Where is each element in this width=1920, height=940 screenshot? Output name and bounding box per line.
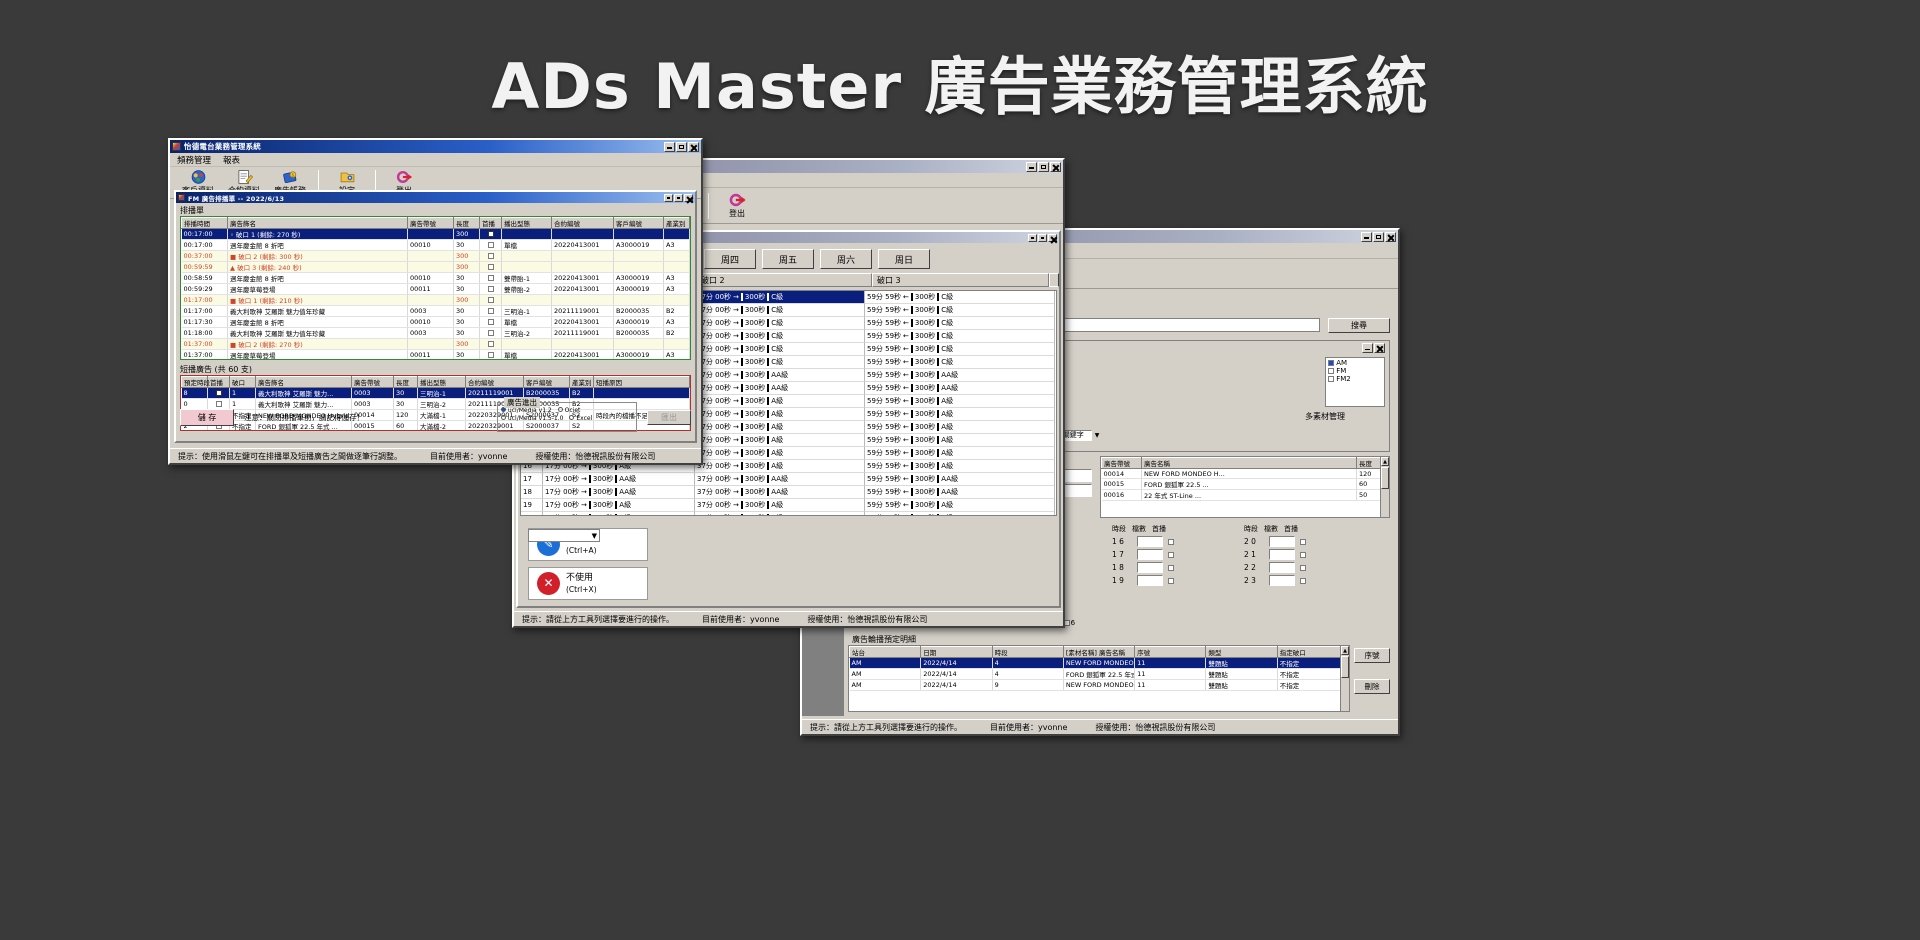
slot-bar-icon	[741, 436, 743, 444]
mdi2-controls[interactable]	[1028, 234, 1057, 242]
schedule-cell-8	[664, 339, 690, 350]
close-icon[interactable]	[1050, 162, 1061, 172]
slot-cell[interactable]: 59分 59秒←300秒AA級	[865, 382, 1055, 395]
slot-bar-icon	[767, 319, 769, 327]
hour-first-checkbox[interactable]	[1168, 552, 1174, 558]
slot-cell[interactable]: 37分 00秒→300秒AA級	[695, 473, 865, 486]
detail-col-2: 時段	[992, 647, 1063, 658]
hour-count-input[interactable]	[1137, 549, 1163, 560]
table-row[interactable]: 01:17:00■ 破口 1 (剩餘: 210 秒)300	[182, 295, 690, 306]
slot-bar-icon	[767, 488, 769, 496]
window-main-ads-master[interactable]: 怡德電台業務管理系統 頻務管理 報表 客戶資料 合約資料	[168, 138, 703, 465]
tab-周日[interactable]: 周日	[878, 249, 930, 269]
slot-text: A級	[941, 448, 953, 458]
slot-text: 59分 59秒	[867, 487, 901, 497]
slot-bar-icon	[741, 514, 743, 516]
maximize-icon[interactable]	[674, 194, 683, 202]
slot-cell[interactable]: 17分 00秒→300秒AA級	[543, 486, 695, 499]
panel-close-icon[interactable]	[1374, 343, 1385, 353]
hour-count-input[interactable]	[1269, 562, 1295, 573]
radio-label-3: Excel	[576, 415, 592, 422]
table-row[interactable]: 00:58:59週年慶金館 8 折吧0001030雙帶胎-12022041300…	[182, 273, 690, 284]
slot-text: AA級	[771, 474, 788, 484]
schedule-cell-0: 01:17:00	[182, 295, 228, 306]
detail-delete-button[interactable]: 刪除	[1354, 679, 1390, 694]
table-row[interactable]: 00:17:00◦ 破口 1 (剩餘: 270 秒)300	[182, 229, 690, 240]
schedule-cell-2: 0003	[408, 328, 454, 339]
slot-cell[interactable]: 59分 59秒←300秒C級	[865, 317, 1055, 330]
row-checkbox[interactable]	[216, 390, 222, 396]
slot-cell[interactable]: 59分 59秒←300秒A級	[865, 499, 1055, 512]
slot-bar-icon	[911, 319, 913, 327]
table-row[interactable]: 00014NEW FORD MONDEO H...120	[1102, 469, 1389, 479]
row-checkbox[interactable]	[488, 242, 494, 248]
slot-cell[interactable]: 59分 59秒←300秒AA級	[865, 369, 1055, 382]
slot-cell[interactable]: 17分 00秒→300秒A級	[543, 499, 695, 512]
cancel-icon: ✕	[537, 572, 560, 595]
slot-cell[interactable]: 37分 00秒→300秒A級	[695, 408, 865, 421]
slot-cell[interactable]: 59分 59秒←300秒C級	[865, 304, 1055, 317]
slot-text: 59分 59秒	[867, 500, 901, 510]
slot-text: 59分 59秒	[867, 292, 901, 302]
schedule-cell-3: 30	[454, 284, 480, 295]
slot-arrow-icon: ←	[903, 423, 909, 431]
schedule-cell-8: A3	[664, 240, 690, 251]
minimize-icon[interactable]	[1026, 162, 1037, 172]
hour-first-checkbox[interactable]	[1300, 539, 1306, 545]
table-row[interactable]: 00015FORD 銀狐軍 22.5 ...60	[1102, 479, 1389, 490]
slot-text: 300秒	[915, 383, 935, 393]
slot-cell[interactable]: 59分 59秒←300秒A級	[865, 421, 1055, 434]
detail-cell-1: 2022/4/14	[921, 658, 992, 669]
slot-arrow-icon: →	[581, 501, 587, 509]
slot-text: 300秒	[593, 500, 613, 510]
slot-arrow-icon: →	[733, 358, 739, 366]
scroll-thumb[interactable]	[1381, 467, 1389, 489]
slot-bar-icon	[911, 371, 913, 379]
menu-item-0[interactable]: 頻務管理	[177, 154, 211, 166]
row-checkbox[interactable]	[488, 286, 494, 292]
station-am-checkbox[interactable]	[1328, 360, 1334, 366]
export-button[interactable]: 匯出	[647, 410, 691, 425]
slot-cell[interactable]: 37分 00秒→300秒AA級	[695, 486, 865, 499]
slot-cell[interactable]: 59分 59秒←300秒C級	[865, 343, 1055, 356]
slot-arrow-icon: ←	[903, 332, 909, 340]
hour-row[interactable]: 2 2	[1244, 562, 1362, 573]
slot-text: AA級	[941, 370, 958, 380]
slot-cell[interactable]: 37分 00秒→300秒C級	[695, 343, 865, 356]
hour-first-checkbox[interactable]	[1300, 578, 1306, 584]
slot-bar-icon	[937, 488, 939, 496]
table-row[interactable]: 00:37:00■ 破口 2 (剩餘: 300 秒)300	[182, 251, 690, 262]
slot-arrow-icon: ←	[903, 319, 909, 327]
hour-first-checkbox[interactable]	[1300, 552, 1306, 558]
slot-arrow-icon: →	[733, 397, 739, 405]
schedule-cell-4	[480, 339, 502, 350]
table-row[interactable]: 01:17:30週年慶金館 8 折吧0001030單檔20220413001A3…	[182, 317, 690, 328]
slot-row[interactable]: 1917分 00秒→300秒A級37分 00秒→300秒A級59分 59秒←30…	[521, 499, 1056, 512]
schedule-cell-7: A3000019	[614, 240, 664, 251]
tab-周六[interactable]: 周六	[820, 249, 872, 269]
disable-button[interactable]: ✕ 不使用 (Ctrl+X)	[528, 567, 648, 600]
station-option-0: AM	[1336, 359, 1347, 367]
schedule-cell-7: A3000019	[614, 317, 664, 328]
slot-cell[interactable]: 59分 59秒←300秒C級	[865, 291, 1055, 304]
row-checkbox[interactable]	[488, 231, 494, 237]
slot-cell[interactable]: 37分 00秒→300秒C級	[695, 304, 865, 317]
slot-cell[interactable]: 59分 59秒←300秒AA級	[865, 486, 1055, 499]
slot-arrow-icon: ←	[903, 371, 909, 379]
slot-cell[interactable]: 37分 00秒→300秒C級	[695, 356, 865, 369]
window1-menubar[interactable]: 頻務管理 報表	[170, 153, 701, 167]
maximize-icon[interactable]	[1038, 234, 1047, 242]
table-row[interactable]: 00:17:00週年慶金館 8 折吧0001030單檔20220413001A3…	[182, 240, 690, 251]
schedule-col-1: 廣告飾名	[228, 218, 408, 229]
hour-first-checkbox[interactable]	[1168, 578, 1174, 584]
slot-text: 59分 59秒	[867, 305, 901, 315]
slot-text: A級	[771, 435, 783, 445]
slot-cell[interactable]: 37分 00秒→300秒C級	[695, 291, 865, 304]
window3-controls[interactable]	[1361, 232, 1396, 242]
schedule-cell-4	[480, 229, 502, 240]
slot-text: 17分 00秒	[545, 474, 579, 484]
slot-text: 300秒	[915, 448, 935, 458]
slot-cell[interactable]: 59分 59秒←300秒C級	[865, 356, 1055, 369]
row-checkbox[interactable]	[488, 297, 494, 303]
detail-cell-1: 2022/4/14	[921, 669, 992, 680]
slot-bar-icon	[767, 475, 769, 483]
minimize-icon[interactable]	[664, 194, 673, 202]
material-body[interactable]: 00014NEW FORD MONDEO H...12000015FORD 銀狐…	[1102, 469, 1389, 501]
close-icon[interactable]	[1385, 232, 1396, 242]
hour-count-input[interactable]	[1137, 562, 1163, 573]
short-ads-col-5: 長度	[394, 377, 418, 388]
detail-grid[interactable]: 站台日期時段[素材名稱] 廣告名稱序號類型指定破口 AM2022/4/144NE…	[849, 646, 1349, 691]
slot-arrow-icon: →	[733, 371, 739, 379]
slot-row[interactable]: 2017分 00秒→300秒A級37分 00秒→300秒A級59分 59秒←30…	[521, 512, 1056, 516]
station-fm2-checkbox[interactable]	[1328, 376, 1334, 382]
schedule-grid[interactable]: 排播時間廣告飾名廣告帶號長度首播播出型態合約編號客戶編號產業別 00:17:00…	[181, 217, 690, 360]
slot-cell[interactable]: 59分 59秒←300秒A級	[865, 447, 1055, 460]
slot-cell[interactable]: 37分 00秒→300秒C級	[695, 330, 865, 343]
row-checkbox[interactable]	[488, 352, 494, 358]
detail-cell-0: AM	[850, 669, 921, 680]
tab-周五[interactable]: 周五	[762, 249, 814, 269]
schedule-cell-6: 20211119001	[552, 328, 614, 339]
slot-cell[interactable]: 17分 00秒→300秒AA級	[543, 473, 695, 486]
table-row[interactable]: 0001622 年式 ST-Line ...50	[1102, 490, 1389, 501]
material-grid[interactable]: 廣告帶號 廣告名稱 長度 00014NEW FORD MONDEO H...12…	[1101, 457, 1389, 501]
menu-item-1[interactable]: 報表	[223, 154, 240, 166]
window1-mdi-child[interactable]: FM 廣告排播單 -- 2022/6/13 排播單 排播時間廣告飾名廣告帶號長度…	[174, 190, 697, 443]
window2-controls[interactable]	[1026, 162, 1061, 172]
slot-arrow-icon: →	[733, 332, 739, 340]
slot-cell[interactable]: 59分 59秒←300秒A級	[865, 434, 1055, 447]
slot-cell[interactable]: 17分 00秒→300秒A級	[543, 512, 695, 516]
slot-bar-icon	[741, 358, 743, 366]
schedule-cell-3: 30	[454, 317, 480, 328]
schedule-body[interactable]: 00:17:00◦ 破口 1 (剩餘: 270 秒)30000:17:00週年慶…	[182, 229, 690, 361]
radio-2[interactable]	[501, 415, 506, 420]
slot-bar-icon	[767, 462, 769, 470]
slot-row[interactable]: 1717分 00秒→300秒AA級37分 00秒→300秒AA級59分 59秒←…	[521, 473, 1056, 486]
row-checkbox[interactable]	[488, 264, 494, 270]
hour-count-input[interactable]	[1269, 536, 1295, 547]
slot-bar-icon	[767, 410, 769, 418]
slot-cell[interactable]: 59分 59秒←300秒A級	[865, 460, 1055, 473]
material-cell-0: 00016	[1102, 490, 1142, 501]
mdi1-titlebar[interactable]: FM 廣告排播單 -- 2022/6/13	[176, 192, 695, 203]
schedule-cell-5: 雙帶胎-1	[502, 273, 552, 284]
slot-text: 300秒	[745, 461, 765, 471]
slot-text: A級	[771, 500, 783, 510]
row-checkbox[interactable]	[488, 275, 494, 281]
slot-cell[interactable]: 37分 00秒→300秒AA級	[695, 369, 865, 382]
hour-row[interactable]: 1 7	[1112, 549, 1230, 560]
detail-cell-1: 2022/4/14	[921, 680, 992, 691]
hour-count-input[interactable]	[1269, 575, 1295, 586]
radio-label-1: Ociet	[565, 407, 581, 414]
detail-side-buttons[interactable]: 序號 刪除	[1354, 648, 1390, 694]
hour-row[interactable]: 1 6	[1112, 536, 1230, 547]
schedule-cell-1: 週年慶金館 8 折吧	[228, 317, 408, 328]
slot-bar-icon	[741, 371, 743, 379]
minimize-icon[interactable]	[1028, 234, 1037, 242]
table-row[interactable]: 00:59:59▲ 破口 3 (剩餘: 240 秒)300	[182, 262, 690, 273]
slot-cell[interactable]: 37分 00秒→300秒A級	[695, 512, 865, 516]
slot-cell[interactable]: 37分 00秒→300秒C級	[695, 317, 865, 330]
slot-bar-icon	[767, 371, 769, 379]
hour-label: 1 7	[1112, 550, 1132, 559]
detail-cell-6: 不指定	[1277, 658, 1348, 669]
slot-cell[interactable]: 37分 00秒→300秒AA級	[695, 382, 865, 395]
slot-bar-icon	[937, 501, 939, 509]
mdi1-title: FM 廣告排播單 -- 2022/6/13	[188, 193, 664, 203]
app-icon	[178, 194, 185, 201]
save-button[interactable]: 儲 存	[180, 409, 234, 426]
schedule-col-3: 長度	[454, 218, 480, 229]
search-button[interactable]: 搜尋	[1328, 318, 1390, 333]
schedule-cell-3: 300	[454, 251, 480, 262]
slot-bar-icon	[767, 384, 769, 392]
detail-scrollbar[interactable]: ▲	[1340, 646, 1349, 711]
slot-cell[interactable]: 59分 59秒←300秒A級	[865, 395, 1055, 408]
slot-cell[interactable]: 37分 00秒→300秒A級	[695, 421, 865, 434]
station-fm-checkbox[interactable]	[1328, 368, 1334, 374]
panel-controls[interactable]	[1362, 343, 1385, 353]
hour-count-input[interactable]	[1137, 536, 1163, 547]
hour-column-2[interactable]: 1 61 71 81 9	[1112, 536, 1230, 586]
schedule-cell-8: A3	[664, 284, 690, 295]
schedule-cell-2	[408, 229, 454, 240]
hour-count-input[interactable]	[1269, 549, 1295, 560]
material-cell-1: NEW FORD MONDEO H...	[1142, 469, 1357, 479]
slot-bar-icon	[741, 475, 743, 483]
material-scrollbar[interactable]: ▲	[1380, 457, 1389, 517]
slot-cell[interactable]: 59分 59秒←300秒A級	[865, 408, 1055, 421]
window1-license: 授權使用：怡德視訊股份有限公司	[535, 451, 655, 462]
hour-row[interactable]: 2 3	[1244, 575, 1362, 586]
short-ads-col-8: 客戶編號	[524, 377, 570, 388]
detail-scroll-up-icon[interactable]: ▲	[1341, 646, 1349, 655]
detail-cell-4: 11	[1135, 669, 1206, 680]
schedule-cell-8: A3	[664, 350, 690, 361]
schedule-cell-2: 00011	[408, 350, 454, 361]
maximize-icon[interactable]	[676, 142, 687, 152]
hour-first-checkbox[interactable]	[1168, 539, 1174, 545]
close-icon[interactable]	[688, 142, 699, 152]
mdi1-controls[interactable]	[664, 194, 693, 202]
schedule-cell-4	[480, 306, 502, 317]
hour-first-checkbox[interactable]	[1168, 565, 1174, 571]
table-row[interactable]: 01:17:00義大利歌神 艾羅斯 魅力值年珍藏000330三明治-120211…	[182, 306, 690, 317]
schedule-cell-0: 01:17:00	[182, 306, 228, 317]
short-ads-col-0: 預定時段	[182, 377, 208, 388]
slot-bar-icon	[911, 410, 913, 418]
slot-arrow-icon: →	[733, 384, 739, 392]
schedule-cell-5: 單檔	[502, 240, 552, 251]
table-row[interactable]: 01:37:00■ 破口 2 (剩餘: 270 秒)300	[182, 339, 690, 350]
detail-scroll-thumb[interactable]	[1341, 656, 1349, 678]
hour-row[interactable]: 1 8	[1112, 562, 1230, 573]
slot-text: 37分 00秒	[697, 487, 731, 497]
slot-bar-icon	[937, 449, 939, 457]
table-row[interactable]: 01:37:00週年慶草莓登場0001130單檔20220413001A3000…	[182, 350, 690, 361]
slot-cell[interactable]: 37分 00秒→300秒A級	[695, 395, 865, 408]
schedule-cell-6: 20220413001	[552, 284, 614, 295]
schedule-cell-8: A3	[664, 273, 690, 284]
row-checkbox[interactable]	[488, 341, 494, 347]
grid-scroll-up-icon[interactable]	[1049, 273, 1059, 287]
schedule-cell-3: 300	[454, 262, 480, 273]
child-footer[interactable]: 儲 存 注意：關閉排播單前，請記得儲存！ 廣告進出 ucl/Media v1.2…	[180, 397, 691, 437]
multi-group-title: 多素材管理	[1265, 411, 1385, 422]
slot-text: C級	[941, 292, 953, 302]
short-ads-col-2: 破口	[230, 377, 256, 388]
radio-label-0: ucl/Media v1.2	[508, 407, 552, 414]
slot-text: 300秒	[745, 422, 765, 432]
slot-text: A級	[941, 435, 953, 445]
window1-statusbar: 提示：使用滑鼠左鍵可在排播單及短播廣告之間做逐筆行調整。 目前使用者：yvonn…	[170, 448, 701, 463]
row-checkbox[interactable]	[488, 319, 494, 325]
hour-column-3[interactable]: 2 02 12 22 3	[1244, 536, 1362, 586]
slot-row[interactable]: 1817分 00秒→300秒AA級37分 00秒→300秒AA級59分 59秒←…	[521, 486, 1056, 499]
table-row[interactable]: AM2022/4/144NEW FORD MONDEO Hybrid Wagon…	[850, 658, 1349, 669]
material-table[interactable]: 廣告帶號 廣告名稱 長度 00014NEW FORD MONDEO H...12…	[1100, 456, 1390, 518]
schedule-col-2: 廣告帶號	[408, 218, 454, 229]
slot-bar-icon	[741, 449, 743, 457]
minimize-icon[interactable]	[1361, 232, 1372, 242]
table-row[interactable]: AM2022/4/149NEW FORD MONDEO Hybrid Wagon…	[850, 680, 1349, 691]
radio-1[interactable]	[558, 407, 563, 412]
slot-cell[interactable]: 59分 59秒←300秒AA級	[865, 473, 1055, 486]
logout-button[interactable]: 登出	[715, 192, 759, 219]
slot-bar-icon	[615, 475, 617, 483]
row-checkbox[interactable]	[488, 253, 494, 259]
detail-seq-button[interactable]: 序號	[1354, 648, 1390, 663]
table-row[interactable]: 00:59:29週年慶草莓登場0001130雙帶胎-220220413001A3…	[182, 284, 690, 295]
detail-table-wrap[interactable]: 站台日期時段[素材名稱] 廣告名稱序號類型指定破口 AM2022/4/144NE…	[848, 645, 1350, 712]
schedule-cell-0: 00:17:00	[182, 229, 228, 240]
slot-bar-icon	[937, 358, 939, 366]
hour-row[interactable]: 1 9	[1112, 575, 1230, 586]
schedule-cell-1: ■ 破口 1 (剩餘: 210 秒)	[228, 295, 408, 306]
schedule-cell-2: 00010	[408, 317, 454, 328]
row-checkbox[interactable]	[488, 330, 494, 336]
maximize-icon[interactable]	[1373, 232, 1384, 242]
slot-bar-icon	[937, 410, 939, 418]
slot-bar-icon	[911, 306, 913, 314]
slot-cell[interactable]: 37分 00秒→300秒A級	[695, 499, 865, 512]
schedule-cell-1: 週年慶草莓登場	[228, 284, 408, 295]
grid-footer-select[interactable]: ▼	[528, 529, 600, 542]
schedule-cell-2	[408, 251, 454, 262]
scroll-up-icon[interactable]: ▲	[1381, 457, 1389, 466]
window1-titlebar[interactable]: 怡德電台業務管理系統	[170, 140, 701, 153]
station-option-2: FM2	[1336, 375, 1351, 383]
slot-bar-icon	[767, 293, 769, 301]
hour-count-input[interactable]	[1137, 575, 1163, 586]
hour-row[interactable]: 2 0	[1244, 536, 1362, 547]
maximize-icon[interactable]	[1038, 162, 1049, 172]
radio-label-2: ucl/Media v1.5-1.0	[508, 415, 564, 422]
schedule-cell-2	[408, 295, 454, 306]
panel-minimize-icon[interactable]	[1362, 343, 1373, 353]
schedule-cell-3: 30	[454, 306, 480, 317]
close-icon[interactable]	[1048, 234, 1057, 242]
window1-controls[interactable]	[664, 142, 699, 152]
minimize-icon[interactable]	[664, 142, 675, 152]
schedule-cell-5: 三明治-1	[502, 306, 552, 317]
hour-label: 2 3	[1244, 576, 1264, 585]
section-label-bottom: 短播廣告 (共 60 支)	[176, 362, 256, 376]
slot-cell[interactable]: 59分 59秒←300秒C級	[865, 330, 1055, 343]
slot-cell[interactable]: 37分 00秒→300秒A級	[695, 460, 865, 473]
slot-cell[interactable]: 37分 00秒→300秒A級	[695, 447, 865, 460]
schedule-col-8: 產業別	[664, 218, 690, 229]
radio-3[interactable]	[569, 415, 574, 420]
detail-header-row: 站台日期時段[素材名稱] 廣告名稱序號類型指定破口	[850, 647, 1349, 658]
slot-text: 300秒	[915, 422, 935, 432]
schedule-table-wrap[interactable]: 排播時間廣告飾名廣告帶號長度首播播出型態合約編號客戶編號產業別 00:17:00…	[180, 216, 691, 360]
close-icon[interactable]	[684, 194, 693, 202]
slot-bar-icon	[937, 514, 939, 516]
row-checkbox[interactable]	[488, 308, 494, 314]
schedule-cell-7	[614, 339, 664, 350]
slot-cell[interactable]: 59分 59秒←300秒A級	[865, 512, 1055, 516]
tab-周四[interactable]: 周四	[704, 249, 756, 269]
slot-index: 20	[521, 512, 543, 516]
schedule-cell-2: 00011	[408, 284, 454, 295]
short-ads-col-4: 廣告帶號	[352, 377, 394, 388]
window1-hint: 提示：使用滑鼠左鍵可在排播單及短播廣告之間做逐筆行調整。	[178, 451, 402, 462]
hour-first-checkbox[interactable]	[1300, 565, 1306, 571]
detail-cell-0: AM	[850, 680, 921, 691]
table-row[interactable]: 01:18:00義大利歌神 艾羅斯 魅力值年珍藏000330三明治-220211…	[182, 328, 690, 339]
detail-section[interactable]: 廣告輪播預定明細 站台日期時段[素材名稱] 廣告名稱序號類型指定破口 AM202…	[848, 632, 1390, 714]
table-row[interactable]: AM2022/4/144FORD 銀狐軍 22.5 年式 全新到港11雙題貼不指…	[850, 669, 1349, 680]
schedule-cell-6	[552, 339, 614, 350]
station-list[interactable]: AM FM FM2	[1325, 357, 1385, 407]
slot-index: 19	[521, 499, 543, 512]
hour-row[interactable]: 2 1	[1244, 549, 1362, 560]
slot-arrow-icon: →	[733, 423, 739, 431]
schedule-cell-0: 01:17:30	[182, 317, 228, 328]
schedule-cell-6: 20220413001	[552, 317, 614, 328]
assign-b-label: 6	[1071, 619, 1075, 627]
slot-cell[interactable]: 37分 00秒→300秒A級	[695, 434, 865, 447]
detail-body[interactable]: AM2022/4/144NEW FORD MONDEO Hybrid Wagon…	[850, 658, 1349, 691]
